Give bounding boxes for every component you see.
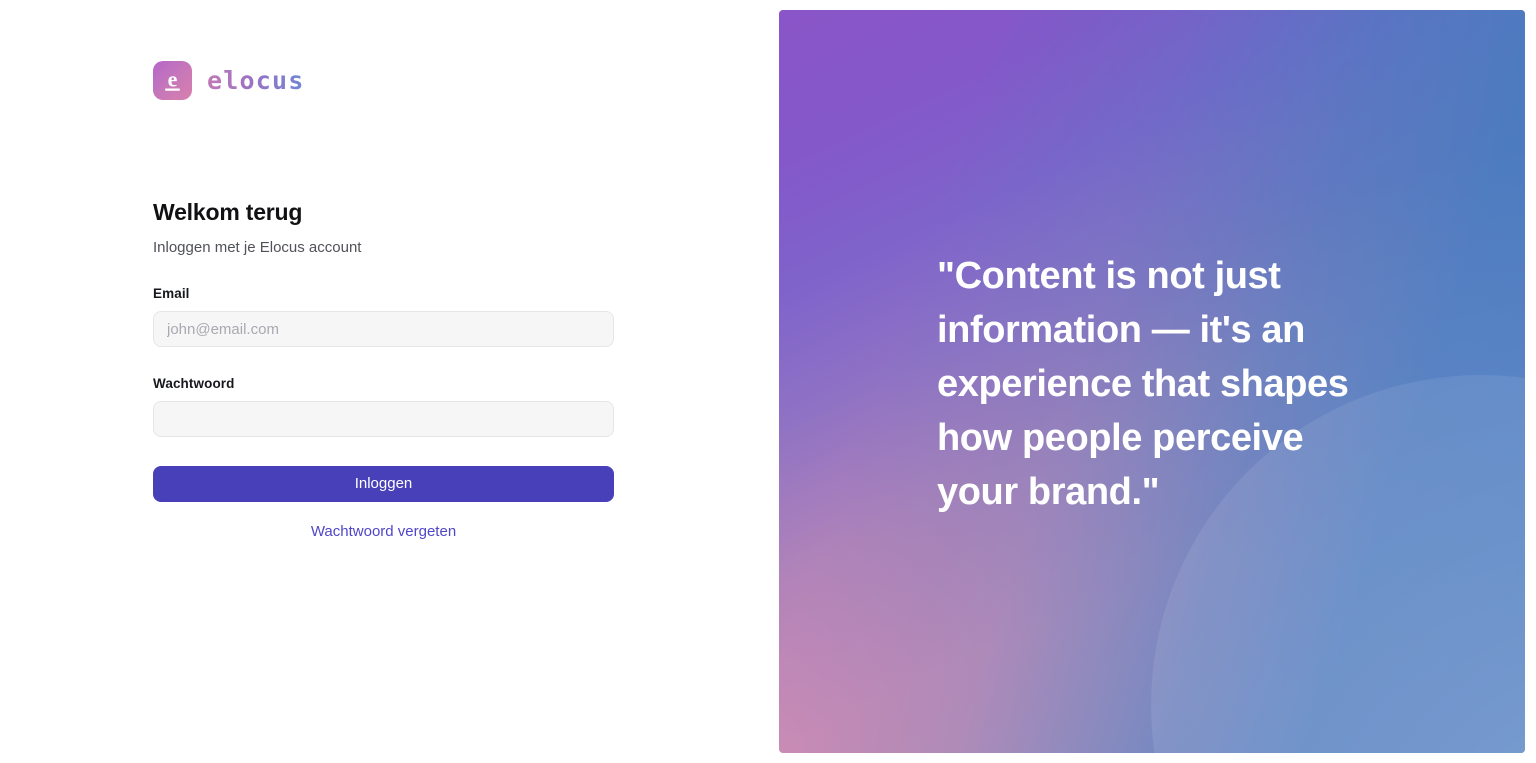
promo-quote-wrap: "Content is not just information — it's … (937, 250, 1377, 520)
login-page: e elocus Welkom terug Inloggen met je El… (0, 0, 1536, 763)
login-pane: e elocus Welkom terug Inloggen met je El… (0, 0, 779, 763)
promo-panel: "Content is not just information — it's … (779, 10, 1525, 753)
brand-wordmark: elocus (207, 68, 305, 93)
password-label: Wachtwoord (153, 376, 614, 391)
brand-logo[interactable]: e elocus (153, 61, 305, 100)
promo-quote-text: "Content is not just information — it's … (937, 250, 1377, 520)
password-field-group: Wachtwoord (153, 376, 614, 437)
svg-text:e: e (168, 67, 178, 92)
login-submit-button[interactable]: Inloggen (153, 466, 614, 502)
email-input[interactable] (153, 311, 614, 347)
login-form: Welkom terug Inloggen met je Elocus acco… (153, 198, 614, 541)
elocus-e-mark-icon: e (153, 61, 192, 100)
page-title: Welkom terug (153, 198, 614, 227)
forgot-password-link[interactable]: Wachtwoord vergeten (311, 523, 456, 540)
email-label: Email (153, 286, 614, 301)
forgot-password-row: Wachtwoord vergeten (153, 523, 614, 541)
page-subtitle: Inloggen met je Elocus account (153, 238, 614, 258)
email-field-group: Email (153, 286, 614, 347)
password-input[interactable] (153, 401, 614, 437)
